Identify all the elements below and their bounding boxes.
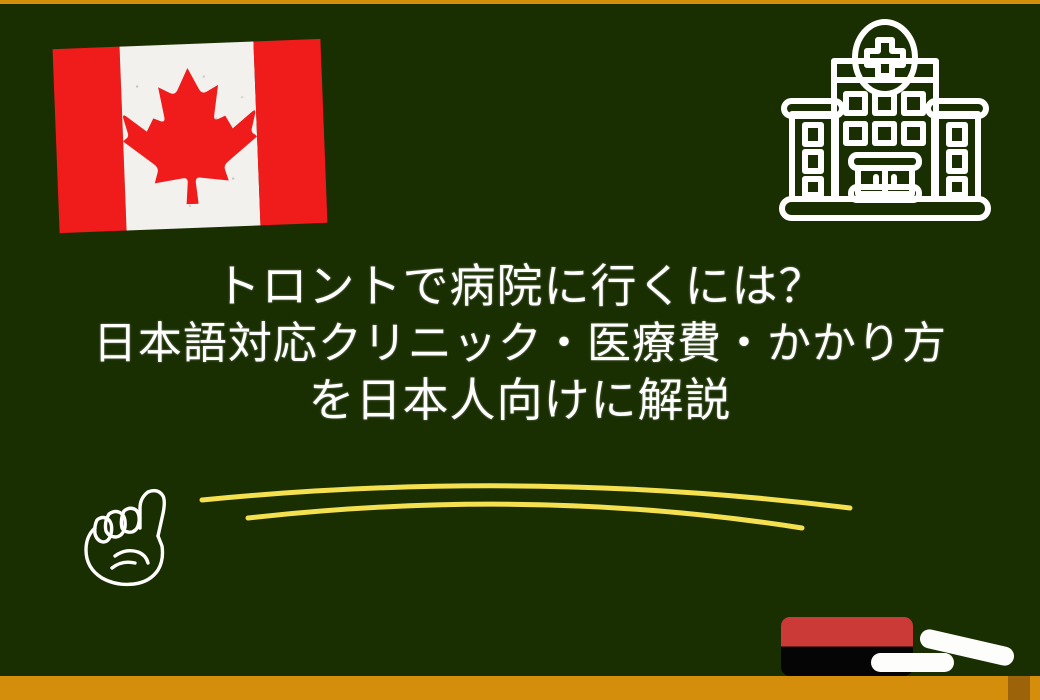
chalk-stick-icon — [871, 653, 954, 672]
headline-line-3: を日本人向けに解説 — [0, 372, 1040, 429]
chalkboard-thumbnail: トロントで病院に行くには？ 日本語対応クリニック・医療費・かかり方 を日本人向け… — [0, 0, 1040, 700]
canada-flag-icon — [53, 39, 328, 233]
maple-leaf-icon — [120, 59, 260, 212]
flag-band-right — [253, 39, 327, 225]
yellow-double-arc-underline — [196, 472, 856, 542]
chalk-ledge-shadow — [1008, 676, 1030, 700]
hospital-building-icon — [778, 18, 992, 228]
headline-line-1: トロントで病院に行くには？ — [0, 258, 1040, 315]
page-title: トロントで病院に行くには？ 日本語対応クリニック・医療費・かかり方 を日本人向け… — [0, 258, 1040, 429]
chalk-ledge — [0, 676, 1040, 700]
pointing-up-hand-icon — [78, 484, 194, 588]
headline-line-2: 日本語対応クリニック・医療費・かかり方 — [0, 315, 1040, 372]
flag-band-left — [53, 47, 127, 233]
